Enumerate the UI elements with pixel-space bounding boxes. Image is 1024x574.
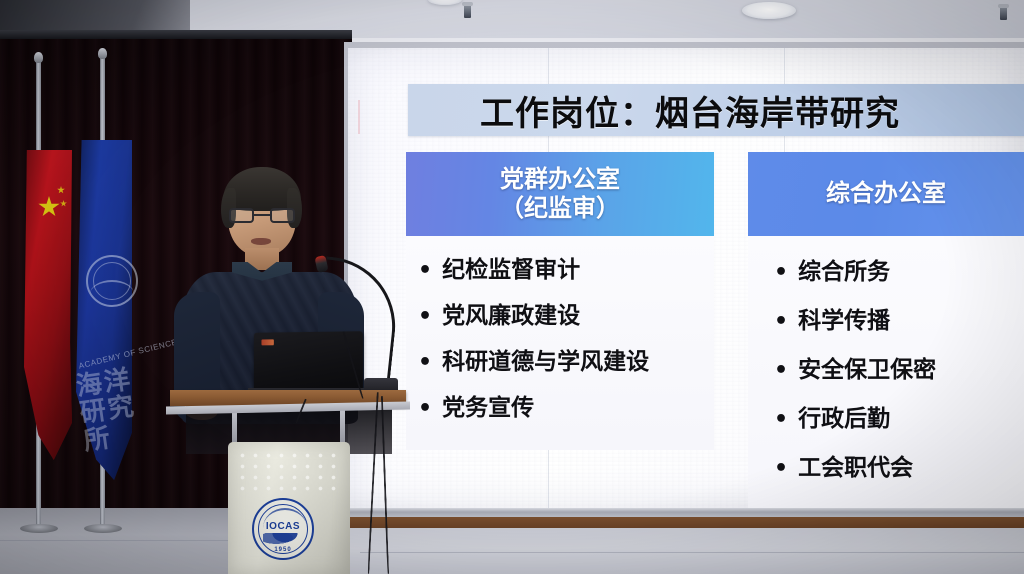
bullet-text: 科研道德与学风建设 bbox=[442, 342, 649, 376]
laptop-logo bbox=[261, 339, 273, 345]
podium-texture-dots bbox=[236, 450, 342, 494]
card-body: • 纪检监督审计 • 党风廉政建设 • 科研道德与学风建设 • bbox=[406, 236, 714, 450]
bullet-item: • 综合所务 bbox=[774, 252, 1020, 286]
bullet-item: • 科研道德与学风建设 bbox=[418, 342, 710, 376]
floor-seam bbox=[360, 552, 1024, 553]
slide-card-group: 党群办公室 （纪监审） • 纪检监督审计 • 党风廉政建设 • bbox=[348, 48, 1024, 510]
bullet-dot-icon: • bbox=[418, 398, 432, 420]
bullet-text: 党风廉政建设 bbox=[442, 296, 580, 330]
slide: 工作岗位：烟台海岸带研究 党群办公室 （纪监审） • 纪检监督审计 bbox=[348, 48, 1024, 510]
bullet-dot-icon: • bbox=[774, 311, 788, 333]
glasses-lens bbox=[270, 208, 295, 223]
card-header-line: 党群办公室 bbox=[500, 165, 620, 194]
bullet-text: 工会职代会 bbox=[798, 448, 913, 482]
flag-stand-base bbox=[84, 524, 122, 533]
bullet-item: • 纪检监督审计 bbox=[418, 250, 710, 284]
sprinkler-icon bbox=[1000, 4, 1007, 20]
glasses-lens bbox=[229, 208, 254, 223]
bullet-text: 综合所务 bbox=[798, 252, 890, 286]
bullet-item: • 工会职代会 bbox=[774, 448, 1020, 482]
podium-iocas-logo: IOCAS 1950 bbox=[252, 498, 314, 560]
logo-year: 1950 bbox=[254, 547, 312, 553]
sprinkler-icon bbox=[464, 2, 471, 18]
bullet-text: 行政后勤 bbox=[798, 399, 890, 433]
bullet-dot-icon: • bbox=[418, 352, 432, 374]
card-dangqun-office: 党群办公室 （纪监审） • 纪检监督审计 • 党风廉政建设 • bbox=[406, 152, 714, 450]
ceiling-light-fixture bbox=[742, 2, 796, 19]
card-body: • 综合所务 • 科学传播 • 安全保卫保密 • bbox=[748, 236, 1024, 510]
bullet-dot-icon: • bbox=[418, 306, 432, 328]
bullet-item: • 党务宣传 bbox=[418, 388, 710, 422]
projector-screen: 工作岗位：烟台海岸带研究 党群办公室 （纪监审） • 纪检监督审计 bbox=[348, 48, 1024, 510]
glasses-bridge bbox=[254, 214, 270, 216]
bullet-text: 党务宣传 bbox=[442, 388, 534, 422]
card-header-line: 综合办公室 bbox=[826, 179, 946, 208]
bullet-text: 科学传播 bbox=[798, 301, 890, 335]
bullet-item: • 安全保卫保密 bbox=[774, 350, 1020, 384]
bullet-dot-icon: • bbox=[774, 360, 788, 382]
card-header: 综合办公室 bbox=[748, 152, 1024, 236]
bullet-dot-icon: • bbox=[774, 262, 788, 284]
bullet-dot-icon: • bbox=[774, 409, 788, 431]
bullet-item: • 党风廉政建设 bbox=[418, 296, 710, 330]
bullet-text: 安全保卫保密 bbox=[798, 350, 936, 384]
flag-finial bbox=[34, 52, 43, 63]
bullet-item: • 行政后勤 bbox=[774, 399, 1020, 433]
flag-finial bbox=[98, 48, 107, 59]
card-header: 党群办公室 （纪监审） bbox=[406, 152, 714, 236]
flag-institute-chinese-text: 海洋研究所 bbox=[75, 366, 144, 455]
bullet-item: • 科学传播 bbox=[774, 301, 1020, 335]
screen-bottom-trim bbox=[344, 508, 1024, 517]
card-header-line: （纪监审） bbox=[500, 194, 620, 223]
bullet-dot-icon: • bbox=[418, 260, 432, 282]
presentation-photo: 工作岗位：烟台海岸带研究 党群办公室 （纪监审） • 纪检监督审计 bbox=[0, 0, 1024, 574]
logo-acronym: IOCAS bbox=[254, 521, 312, 532]
flag-stand-base bbox=[20, 524, 58, 533]
bullet-text: 纪检监督审计 bbox=[442, 250, 580, 284]
card-zonghe-office: 综合办公室 • 综合所务 • 科学传播 • 安全保卫保密 bbox=[748, 152, 1024, 510]
curtain-rail bbox=[0, 30, 352, 39]
speaker-mouth bbox=[251, 238, 271, 245]
glasses-icon bbox=[228, 208, 296, 224]
bullet-dot-icon: • bbox=[774, 458, 788, 480]
